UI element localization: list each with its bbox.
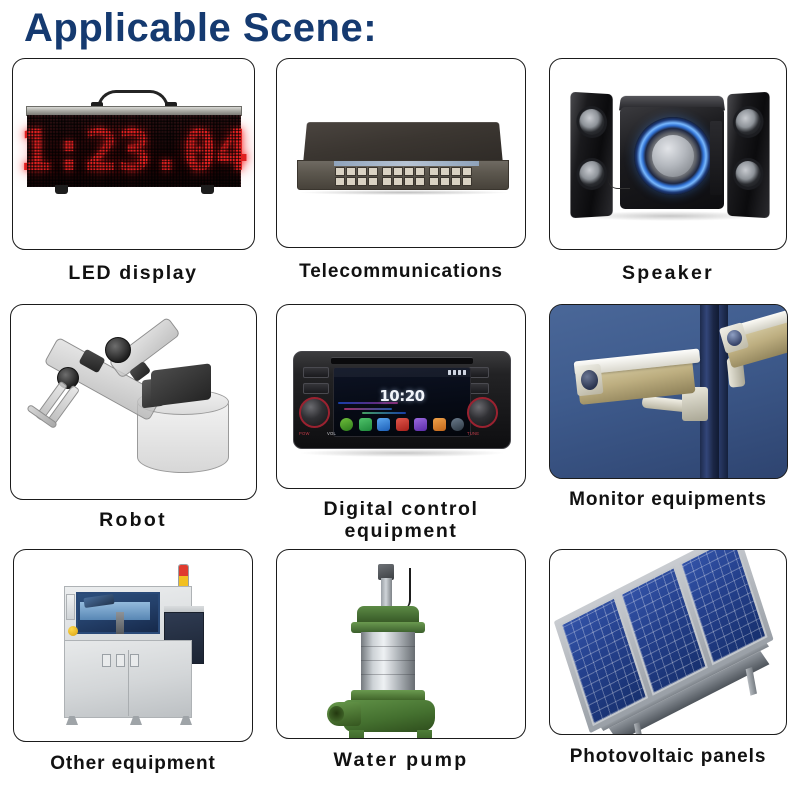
camera-lens-glass-upper (727, 330, 742, 346)
scene-image-telecommunications (276, 58, 526, 248)
app-icon-gps[interactable] (377, 418, 390, 431)
app-icon-media[interactable] (396, 418, 409, 431)
speaker-shadow (580, 211, 760, 221)
cabinet-button-row (102, 654, 139, 667)
app-dock (340, 418, 464, 431)
signal-icon (448, 370, 451, 375)
caption-robot: Robot (99, 510, 167, 532)
scene-grid: 1:23.04 LED display (0, 58, 800, 797)
scene-image-other-equipment (13, 549, 253, 742)
scene-cell-led-display: 1:23.04 LED display (0, 58, 266, 304)
tower-light-yellow (179, 576, 188, 587)
satellite-speaker-right (727, 92, 769, 219)
rj45-port (404, 167, 414, 176)
robot-arm-illustration (11, 305, 256, 499)
app-icon-settings[interactable] (414, 418, 427, 431)
robot-end-effector (151, 363, 211, 406)
tower-light-red (179, 565, 188, 576)
scene-cell-other-equipment: Other equipment (0, 549, 266, 797)
cabinet-button[interactable] (130, 654, 139, 667)
scene-image-monitor-equipments (549, 304, 788, 479)
scene-image-speaker (549, 58, 787, 250)
rj45-port (382, 167, 392, 176)
cabinet-button[interactable] (116, 654, 125, 667)
pump-leg (417, 730, 432, 739)
rj45-port (429, 167, 439, 176)
screen-clock: 10:20 (334, 387, 470, 405)
caption-digital-control-equipment: Digital control equipment (323, 499, 478, 543)
scene-image-digital-control-equipment: 10:20 POW VOL (276, 304, 526, 489)
scene-cell-water-pump: Water pump (266, 549, 536, 797)
knob-label-vol: VOL (327, 431, 336, 436)
caption-monitor-equipments: Monitor equipments (569, 489, 767, 510)
solar-array-assembly (554, 549, 784, 735)
led-foot-left (55, 185, 68, 194)
pump-stainless-body (361, 632, 415, 694)
scene-image-led-display: 1:23.04 (12, 58, 255, 250)
scene-image-water-pump (276, 549, 526, 739)
subwoofer-cone (652, 135, 694, 177)
scene-image-robot (10, 304, 257, 500)
speaker-system-illustration (550, 59, 786, 249)
rj45-port (462, 167, 472, 176)
rj45-port (415, 167, 425, 176)
body-ridge (361, 646, 415, 647)
car-head-unit-illustration: 10:20 POW VOL (277, 305, 525, 488)
wifi-icon (453, 370, 456, 375)
caption-led-display: LED display (68, 263, 197, 285)
subwoofer-control-panel (710, 121, 722, 195)
switch-port-group (382, 167, 425, 186)
disc-slot (331, 357, 473, 364)
knob-label-pow: POW (299, 431, 310, 436)
machine-control-strip (66, 594, 75, 620)
rj45-port (346, 167, 356, 176)
led-dot-matrix-overlay (27, 115, 241, 187)
scene-cell-telecommunications: Telecommunications (266, 58, 536, 304)
rj45-port (335, 167, 345, 176)
caption-water-pump: Water pump (334, 750, 469, 772)
power-cable (395, 568, 411, 610)
speaker-driver (579, 108, 604, 135)
water-pump-illustration (277, 550, 525, 738)
speaker-driver (736, 108, 761, 135)
rj45-port (346, 177, 356, 186)
scene-cell-monitor-equipments: Monitor equipments (536, 304, 800, 549)
network-switch-illustration (277, 59, 525, 247)
rj45-port (335, 177, 345, 186)
switch-top-chassis (303, 122, 503, 165)
rj45-port (404, 177, 414, 186)
tune-knob[interactable] (467, 397, 498, 428)
rj45-port (357, 167, 367, 176)
satellite-speaker-left (570, 92, 612, 219)
caption-photovoltaic-panels: Photovoltaic panels (570, 746, 767, 767)
battery-icon (463, 370, 466, 375)
rj45-port (393, 167, 403, 176)
rj45-port (451, 167, 461, 176)
bluetooth-icon (458, 370, 461, 375)
cabinet-button[interactable] (102, 654, 111, 667)
app-icon-phone[interactable] (433, 418, 446, 431)
rj45-port (357, 177, 367, 186)
rj45-port (451, 177, 461, 186)
rj45-port (440, 177, 450, 186)
switch-port-group (429, 167, 472, 186)
caption-other-equipment: Other equipment (50, 753, 216, 774)
rj45-port (440, 167, 450, 176)
robot-shoulder-joint (105, 337, 131, 363)
scene-image-photovoltaic-panels (549, 549, 787, 735)
caption-speaker: Speaker (622, 263, 714, 285)
scene-cell-digital-control-equipment: 10:20 POW VOL (266, 304, 536, 549)
pump-outlet-bore (329, 706, 344, 722)
head-unit-shadow (301, 449, 503, 457)
cctv-cameras-illustration (550, 305, 787, 478)
speaker-driver (736, 161, 761, 187)
pump-leg (349, 730, 364, 739)
body-ridge (361, 660, 415, 661)
knob-label-tune: TUNE (467, 431, 479, 436)
page-title: Applicable Scene: (24, 6, 377, 51)
app-icon-navigation[interactable] (359, 418, 372, 431)
rj45-port (393, 177, 403, 186)
solar-panels-illustration (550, 550, 786, 734)
status-bar (334, 368, 470, 377)
rj45-port (429, 177, 439, 186)
speaker-driver (579, 161, 604, 187)
caption-telecommunications: Telecommunications (299, 261, 503, 282)
preset-button[interactable] (303, 383, 329, 394)
emergency-stop-button[interactable] (68, 626, 78, 636)
switch-led-strip (334, 161, 479, 166)
app-icon-radio[interactable] (340, 418, 353, 431)
switch-port-bank (335, 167, 472, 186)
rj45-port (368, 177, 378, 186)
switch-shadow (301, 190, 507, 195)
rj45-port (368, 167, 378, 176)
volume-power-knob[interactable] (299, 397, 330, 428)
led-foot-right (201, 185, 214, 194)
industrial-machine-illustration (14, 550, 252, 741)
rj45-port (462, 177, 472, 186)
head-unit-touchscreen[interactable]: 10:20 (333, 367, 471, 437)
wallpaper-streak (362, 412, 406, 414)
scene-cell-robot: Robot (0, 304, 266, 549)
rj45-port (415, 177, 425, 186)
app-icon-apps[interactable] (451, 418, 464, 431)
placement-nozzle (116, 612, 124, 634)
led-display-illustration: 1:23.04 (13, 59, 254, 249)
scene-cell-photovoltaic-panels: Photovoltaic panels (536, 549, 800, 797)
rj45-port (382, 177, 392, 186)
wallpaper-streak (344, 408, 392, 410)
applicable-scene-infographic: Applicable Scene: 1:23.04 LED display (0, 0, 800, 800)
scene-cell-speaker: Speaker (536, 58, 800, 304)
preset-button[interactable] (303, 367, 329, 378)
switch-port-group (335, 167, 378, 186)
body-ridge (361, 674, 415, 675)
